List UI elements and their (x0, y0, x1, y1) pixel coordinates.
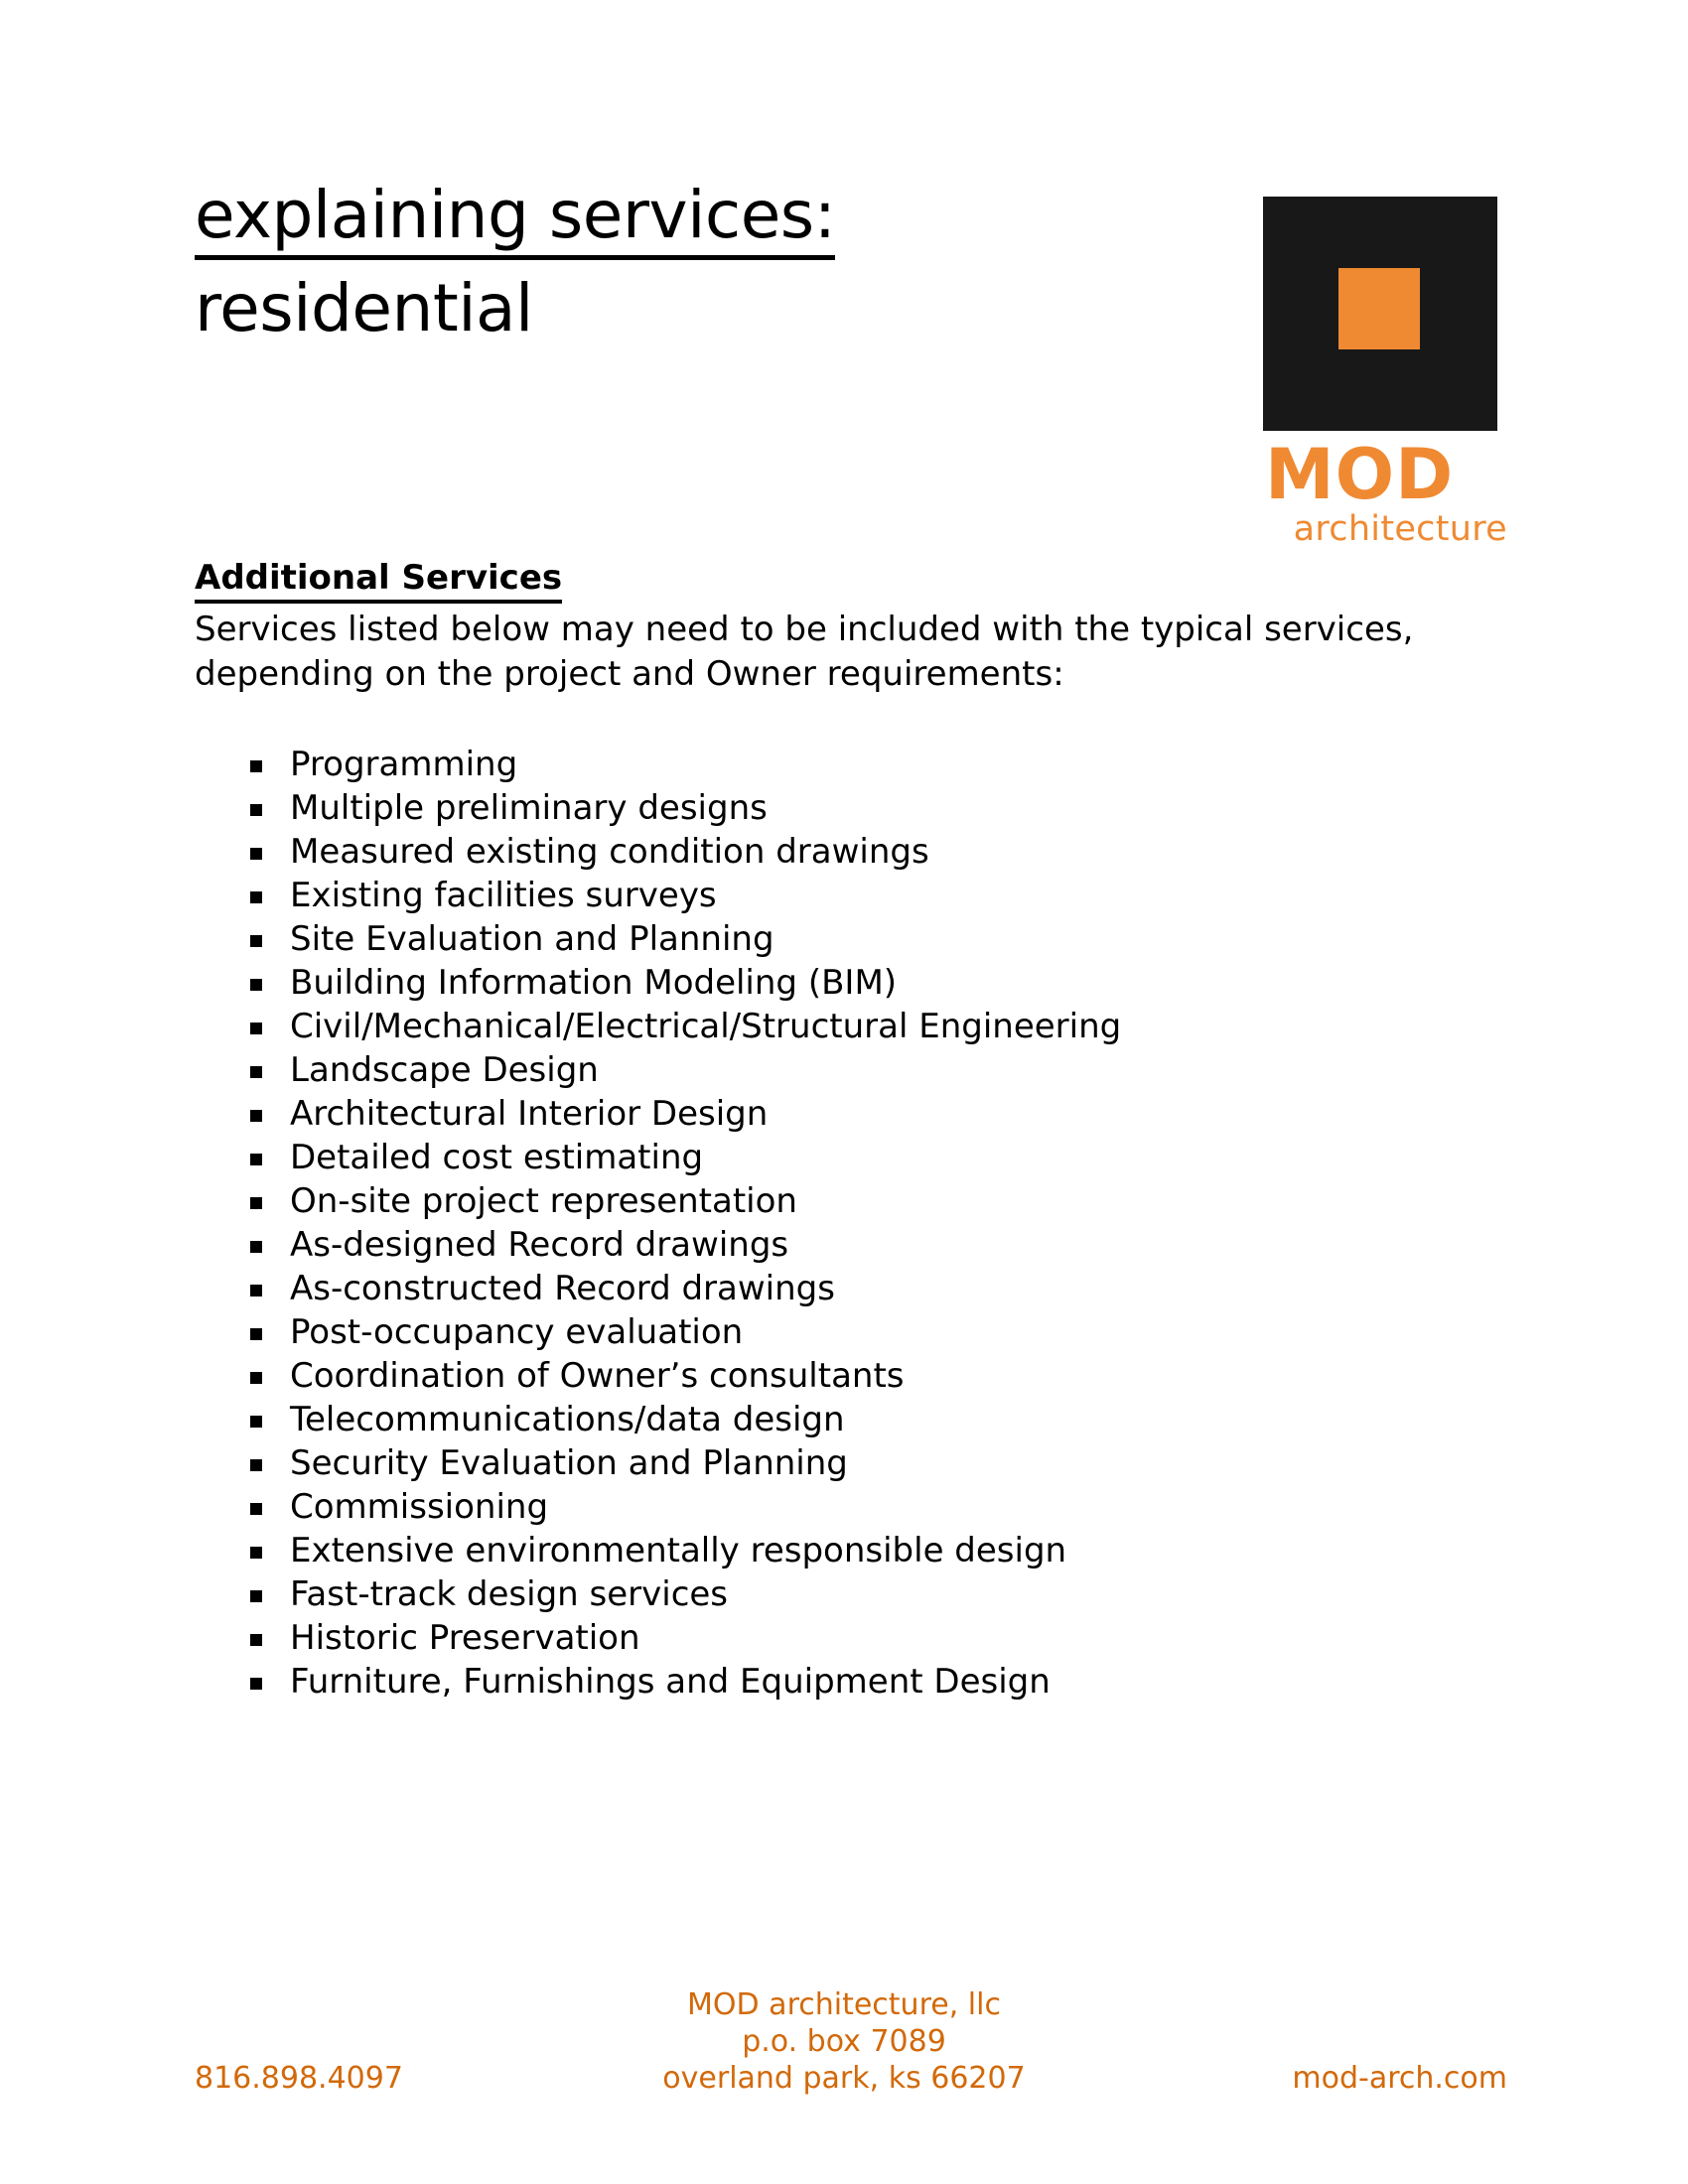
service-list-item: Architectural Interior Design (195, 1092, 1505, 1136)
square-bullet-icon (250, 804, 262, 816)
section-heading-additional-services: Additional Services (195, 556, 562, 604)
logo-inner-square-icon (1338, 268, 1420, 349)
service-list-item: Multiple preliminary designs (195, 786, 1505, 830)
service-list-item: Civil/Mechanical/Electrical/Structural E… (195, 1005, 1505, 1048)
square-bullet-icon (250, 1197, 262, 1209)
service-list-item-label: Fast-track design services (290, 1574, 728, 1614)
intro-paragraph: Services listed below may need to be inc… (195, 608, 1446, 697)
service-list-item: Building Information Modeling (BIM) (195, 961, 1505, 1005)
service-list-item: Landscape Design (195, 1048, 1505, 1092)
document-header: explaining services: residential MOD arc… (0, 0, 1688, 556)
logo-subtitle: architecture (1263, 510, 1509, 548)
square-bullet-icon (250, 1154, 262, 1165)
service-list-item: Telecommunications/data design (195, 1398, 1505, 1441)
service-list-item-label: Site Evaluation and Planning (290, 919, 774, 959)
square-bullet-icon (250, 1634, 262, 1646)
square-bullet-icon (250, 1023, 262, 1034)
additional-services-list: ProgrammingMultiple preliminary designsM… (195, 743, 1505, 1704)
service-list-item: Site Evaluation and Planning (195, 917, 1505, 961)
square-bullet-icon (250, 1547, 262, 1559)
square-bullet-icon (250, 1590, 262, 1602)
footer-website-link[interactable]: mod-arch.com (1292, 2060, 1507, 2097)
service-list-item-label: Extensive environmentally responsible de… (290, 1531, 1066, 1570)
square-bullet-icon (250, 935, 262, 947)
service-list-item-label: Telecommunications/data design (290, 1400, 845, 1439)
service-list-item: Extensive environmentally responsible de… (195, 1529, 1505, 1572)
service-list-item-label: Historic Preservation (290, 1618, 640, 1658)
service-list-item-label: Landscape Design (290, 1050, 599, 1090)
service-list-item: Commissioning (195, 1485, 1505, 1529)
service-list-item: Furniture, Furnishings and Equipment Des… (195, 1660, 1505, 1704)
intro-text: Services listed below may need to be inc… (195, 608, 1446, 697)
mod-architecture-logo: MOD architecture (1263, 197, 1509, 548)
service-list-item-label: Coordination of Owner’s consultants (290, 1356, 905, 1396)
service-list-item-label: Civil/Mechanical/Electrical/Structural E… (290, 1007, 1121, 1046)
service-list-item: Security Evaluation and Planning (195, 1441, 1505, 1485)
service-list-item: Detailed cost estimating (195, 1136, 1505, 1179)
footer-company-name: MOD architecture, llc (0, 1986, 1688, 2023)
page-title-secondary: residential (195, 266, 1088, 351)
service-list-item: On-site project representation (195, 1179, 1505, 1223)
document-content: Additional Services Services listed belo… (195, 556, 1505, 1704)
document-page: explaining services: residential MOD arc… (0, 0, 1688, 2184)
square-bullet-icon (250, 1459, 262, 1471)
logo-wordmark: MOD (1265, 440, 1509, 509)
service-list-item-label: Commissioning (290, 1487, 548, 1527)
service-list-item-label: Architectural Interior Design (290, 1094, 768, 1134)
service-list-item-label: Post-occupancy evaluation (290, 1312, 743, 1352)
square-bullet-icon (250, 848, 262, 860)
square-bullet-icon (250, 1372, 262, 1384)
service-list-item: Programming (195, 743, 1505, 786)
service-list-item-label: Security Evaluation and Planning (290, 1443, 848, 1483)
logo-square-icon (1263, 197, 1497, 431)
square-bullet-icon (250, 979, 262, 991)
service-list-item-label: Multiple preliminary designs (290, 788, 768, 828)
service-list-item: Existing facilities surveys (195, 874, 1505, 917)
square-bullet-icon (250, 891, 262, 903)
square-bullet-icon (250, 1066, 262, 1078)
service-list-item: As-designed Record drawings (195, 1223, 1505, 1267)
service-list-item-label: Furniture, Furnishings and Equipment Des… (290, 1662, 1051, 1702)
service-list-item-label: Existing facilities surveys (290, 876, 717, 915)
square-bullet-icon (250, 1285, 262, 1297)
square-bullet-icon (250, 1416, 262, 1428)
service-list-item-label: On-site project representation (290, 1181, 797, 1221)
footer-phone-number[interactable]: 816.898.4097 (195, 2060, 403, 2097)
service-list-item: Post-occupancy evaluation (195, 1310, 1505, 1354)
page-title-primary: explaining services: (195, 177, 835, 260)
service-list-item-label: As-designed Record drawings (290, 1225, 788, 1265)
service-list-item-label: Measured existing condition drawings (290, 832, 929, 872)
service-list-item-label: As-constructed Record drawings (290, 1269, 835, 1308)
document-footer: MOD architecture, llc p.o. box 7089 over… (0, 1985, 1688, 2184)
square-bullet-icon (250, 1110, 262, 1122)
service-list-item-label: Programming (290, 745, 517, 784)
square-bullet-icon (250, 760, 262, 772)
service-list-item: As-constructed Record drawings (195, 1267, 1505, 1310)
square-bullet-icon (250, 1241, 262, 1253)
service-list-item: Coordination of Owner’s consultants (195, 1354, 1505, 1398)
footer-address-line-1: p.o. box 7089 (0, 2023, 1688, 2060)
square-bullet-icon (250, 1678, 262, 1690)
page-title-block: explaining services: residential (195, 177, 1088, 351)
service-list-item: Measured existing condition drawings (195, 830, 1505, 874)
service-list-item: Fast-track design services (195, 1572, 1505, 1616)
square-bullet-icon (250, 1503, 262, 1515)
square-bullet-icon (250, 1328, 262, 1340)
service-list-item: Historic Preservation (195, 1616, 1505, 1660)
service-list-item-label: Detailed cost estimating (290, 1138, 703, 1177)
service-list-item-label: Building Information Modeling (BIM) (290, 963, 897, 1003)
